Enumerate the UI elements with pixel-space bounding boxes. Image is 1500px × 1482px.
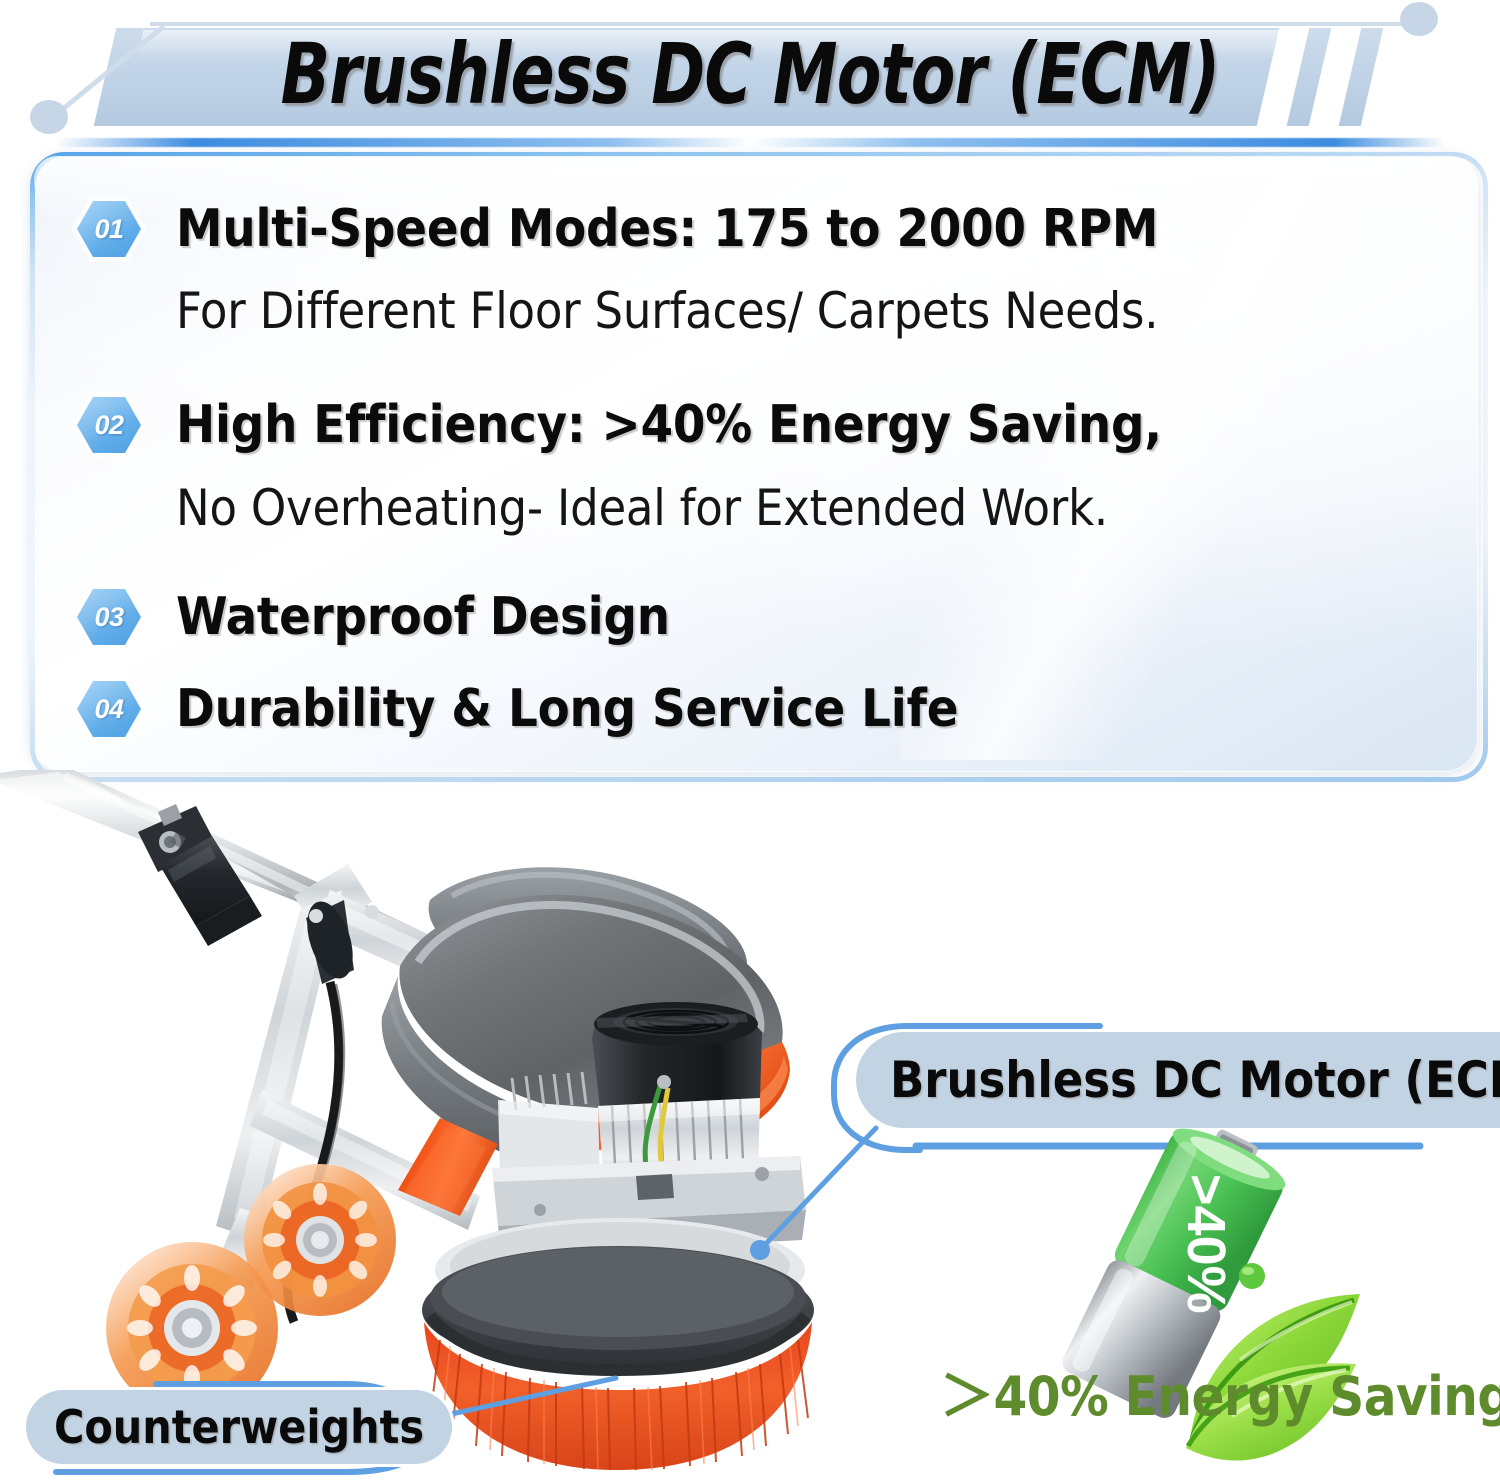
- leaf-dot-icon: [1239, 1263, 1265, 1289]
- badge-number: 03: [94, 602, 123, 633]
- callout-counterweights[interactable]: Counterweights: [16, 1372, 536, 1482]
- callout-pill-counterweights[interactable]: Counterweights: [26, 1390, 452, 1464]
- feature-heading: Durability & Long Service Life: [176, 679, 958, 739]
- badge-hexagon-01: 01: [72, 196, 146, 262]
- badge-number: 02: [94, 410, 123, 441]
- page-title: Brushless DC Motor (ECM): [105, 18, 1395, 130]
- feature-row-02: 02 High Efficiency: >40% Energy Saving,: [72, 392, 1162, 458]
- battery-label: >40%: [1176, 1174, 1236, 1314]
- feature-heading: High Efficiency: >40% Energy Saving,: [176, 395, 1162, 455]
- feature-heading: Waterproof Design: [176, 587, 670, 647]
- badge-hexagon-03: 03: [72, 584, 146, 650]
- callout-label: Brushless DC Motor (ECM): [890, 1051, 1500, 1109]
- feature-row-03: 03 Waterproof Design: [72, 584, 670, 650]
- badge-hexagon-02: 02: [72, 392, 146, 458]
- feature-row-01: 01 Multi-Speed Modes: 175 to 2000 RPM: [72, 196, 1158, 262]
- badge-number: 01: [94, 214, 123, 245]
- header-dot-right-icon: [1400, 2, 1438, 36]
- header-banner: Brushless DC Motor (ECM): [0, 0, 1500, 150]
- energy-saving-caption: ＞40% Energy Saving: [940, 1352, 1460, 1431]
- feature-subtext-02: No Overheating- Ideal for Extended Work.: [176, 479, 1108, 537]
- badge-hexagon-04: 04: [72, 676, 146, 742]
- feature-heading: Multi-Speed Modes: 175 to 2000 RPM: [176, 199, 1158, 259]
- badge-number: 04: [94, 694, 123, 725]
- header-underline-glow: [55, 138, 1445, 147]
- header-dot-left-icon: [30, 100, 68, 134]
- callout-label: Counterweights: [54, 1400, 424, 1454]
- feature-subtext-01: For Different Floor Surfaces/ Carpets Ne…: [176, 282, 1158, 340]
- feature-row-04: 04 Durability & Long Service Life: [72, 676, 958, 742]
- features-list: 01 Multi-Speed Modes: 175 to 2000 RPM Fo…: [30, 152, 1478, 772]
